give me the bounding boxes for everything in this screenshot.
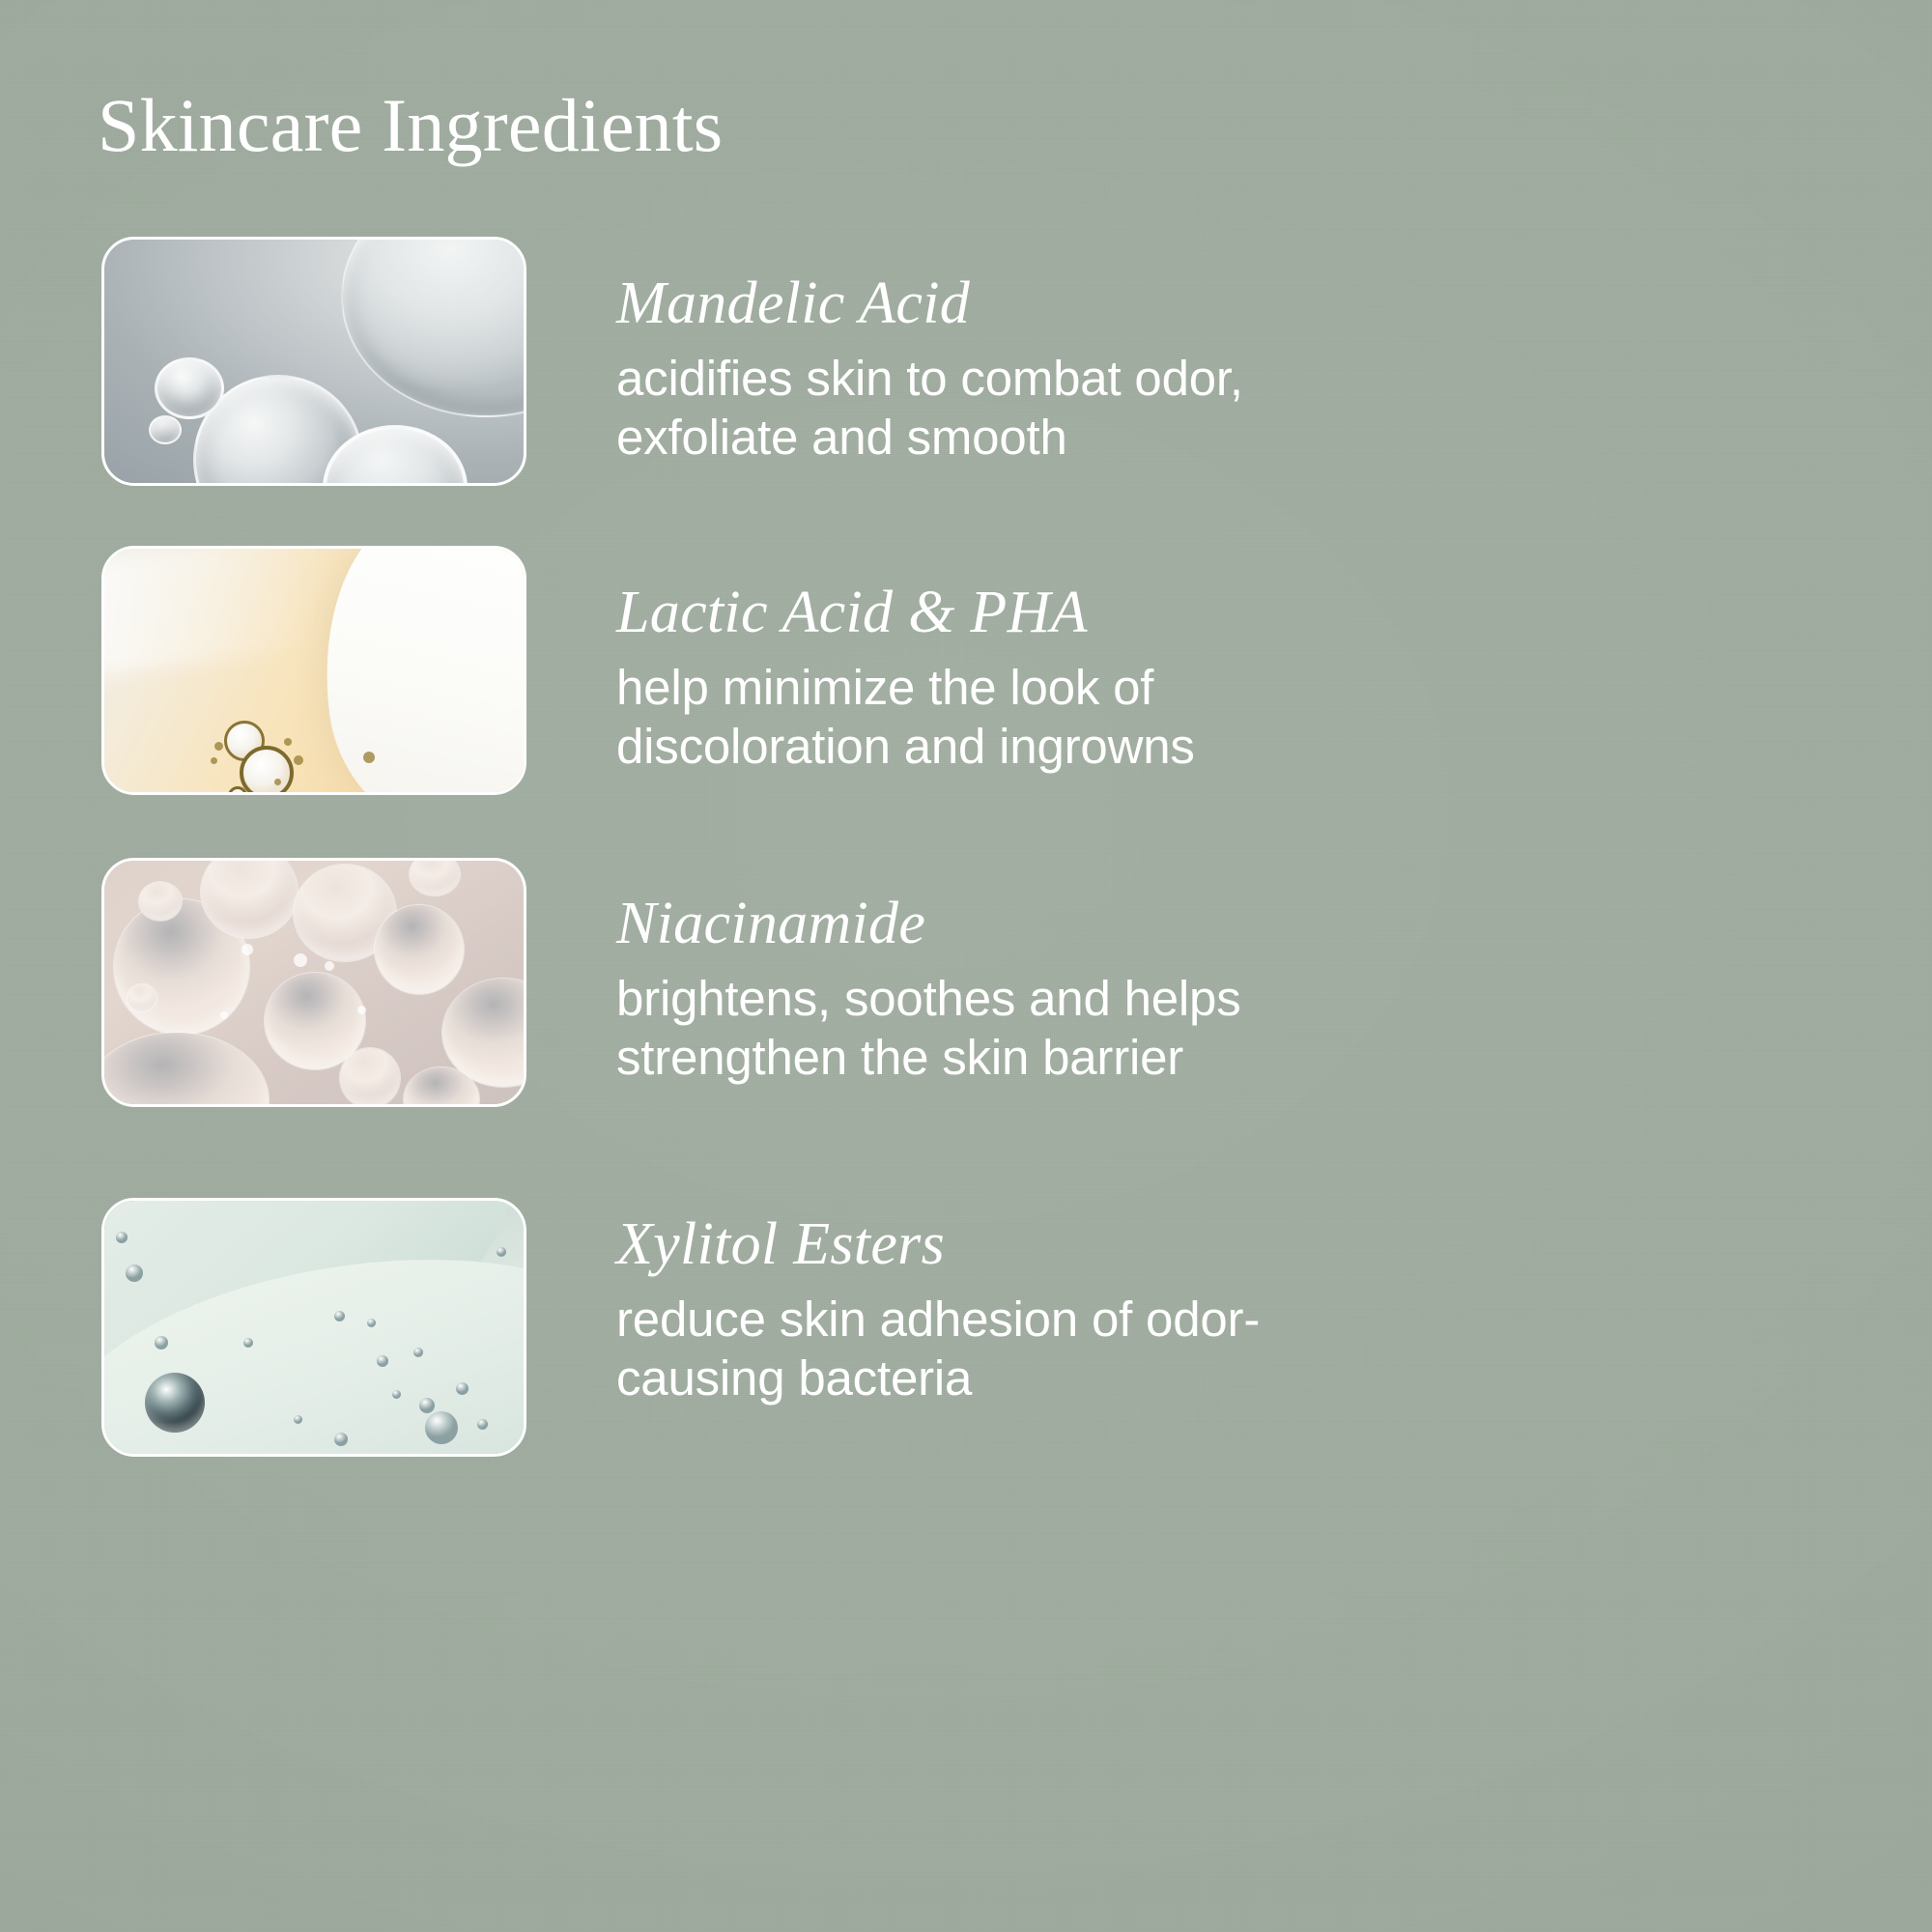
bubble-shape: [340, 1048, 400, 1107]
micro-bubble: [334, 1433, 348, 1446]
bubble-shape: [375, 905, 464, 994]
micro-bubble: [363, 752, 375, 763]
micro-bubble: [392, 1390, 401, 1399]
bubble-shape: [425, 1411, 458, 1444]
bubble-shape: [139, 882, 182, 921]
micro-bubble: [477, 1419, 488, 1430]
ingredient-name: Niacinamide: [616, 893, 1872, 955]
micro-bubble: [211, 757, 217, 764]
micro-bubble: [294, 1415, 302, 1424]
micro-bubble: [220, 1011, 228, 1019]
micro-bubble: [274, 779, 281, 785]
micro-bubble: [214, 742, 223, 751]
micro-bubble: [241, 944, 253, 955]
ingredient-thumbnail-lactic-acid-pha: golden-oil-bubbles-swatch: [101, 546, 526, 795]
micro-bubble: [155, 1336, 168, 1350]
ingredient-text-block: Xylitol Esters reduce skin adhesion of o…: [616, 1213, 1872, 1407]
ingredient-text-block: Mandelic Acid acidifies skin to combat o…: [616, 272, 1872, 467]
bubble-shape: [128, 984, 156, 1011]
ingredient-name: Xylitol Esters: [616, 1213, 1872, 1276]
ingredient-description: acidifies skin to combat odor, exfoliate…: [616, 349, 1350, 467]
ingredient-name: Lactic Acid & PHA: [616, 582, 1872, 644]
ingredient-text-block: Niacinamide brightens, soothes and helps…: [616, 893, 1872, 1087]
bubble-shape: [149, 415, 182, 444]
ingredient-thumbnail-mandelic-acid: silver-liquid-bubbles-swatch: [101, 237, 526, 486]
ingredient-list: silver-liquid-bubbles-swatch Mandelic Ac…: [0, 0, 1932, 1932]
micro-bubble: [357, 1006, 366, 1014]
ingredient-description: reduce skin adhesion of odor-causing bac…: [616, 1290, 1350, 1407]
ingredient-text-block: Lactic Acid & PHA help minimize the look…: [616, 582, 1872, 776]
ingredient-thumbnail-xylitol-esters: teal-gel-swirl-swatch: [101, 1198, 526, 1457]
micro-bubble: [294, 953, 307, 967]
micro-bubble: [497, 1247, 506, 1257]
micro-bubble: [116, 1232, 128, 1243]
ingredient-description: brightens, soothes and helps strengthen …: [616, 969, 1350, 1087]
bubble-shape: [240, 746, 294, 795]
micro-bubble: [243, 1338, 253, 1348]
bubble-shape: [145, 1373, 205, 1433]
micro-bubble: [419, 1398, 435, 1413]
micro-bubble: [377, 1355, 388, 1367]
micro-bubble: [325, 961, 334, 971]
bubble-shape: [155, 357, 224, 419]
micro-bubble: [284, 738, 292, 746]
micro-bubble: [413, 1348, 423, 1357]
micro-bubble: [334, 1311, 345, 1321]
micro-bubble: [456, 1382, 469, 1395]
ingredient-thumbnail-niacinamide: blush-pink-bubbles-swatch: [101, 858, 526, 1107]
micro-bubble: [126, 1264, 143, 1282]
ingredient-description: help minimize the look of discoloration …: [616, 658, 1350, 776]
ingredient-name: Mandelic Acid: [616, 272, 1872, 335]
micro-bubble: [294, 755, 303, 765]
micro-bubble: [367, 1319, 376, 1327]
